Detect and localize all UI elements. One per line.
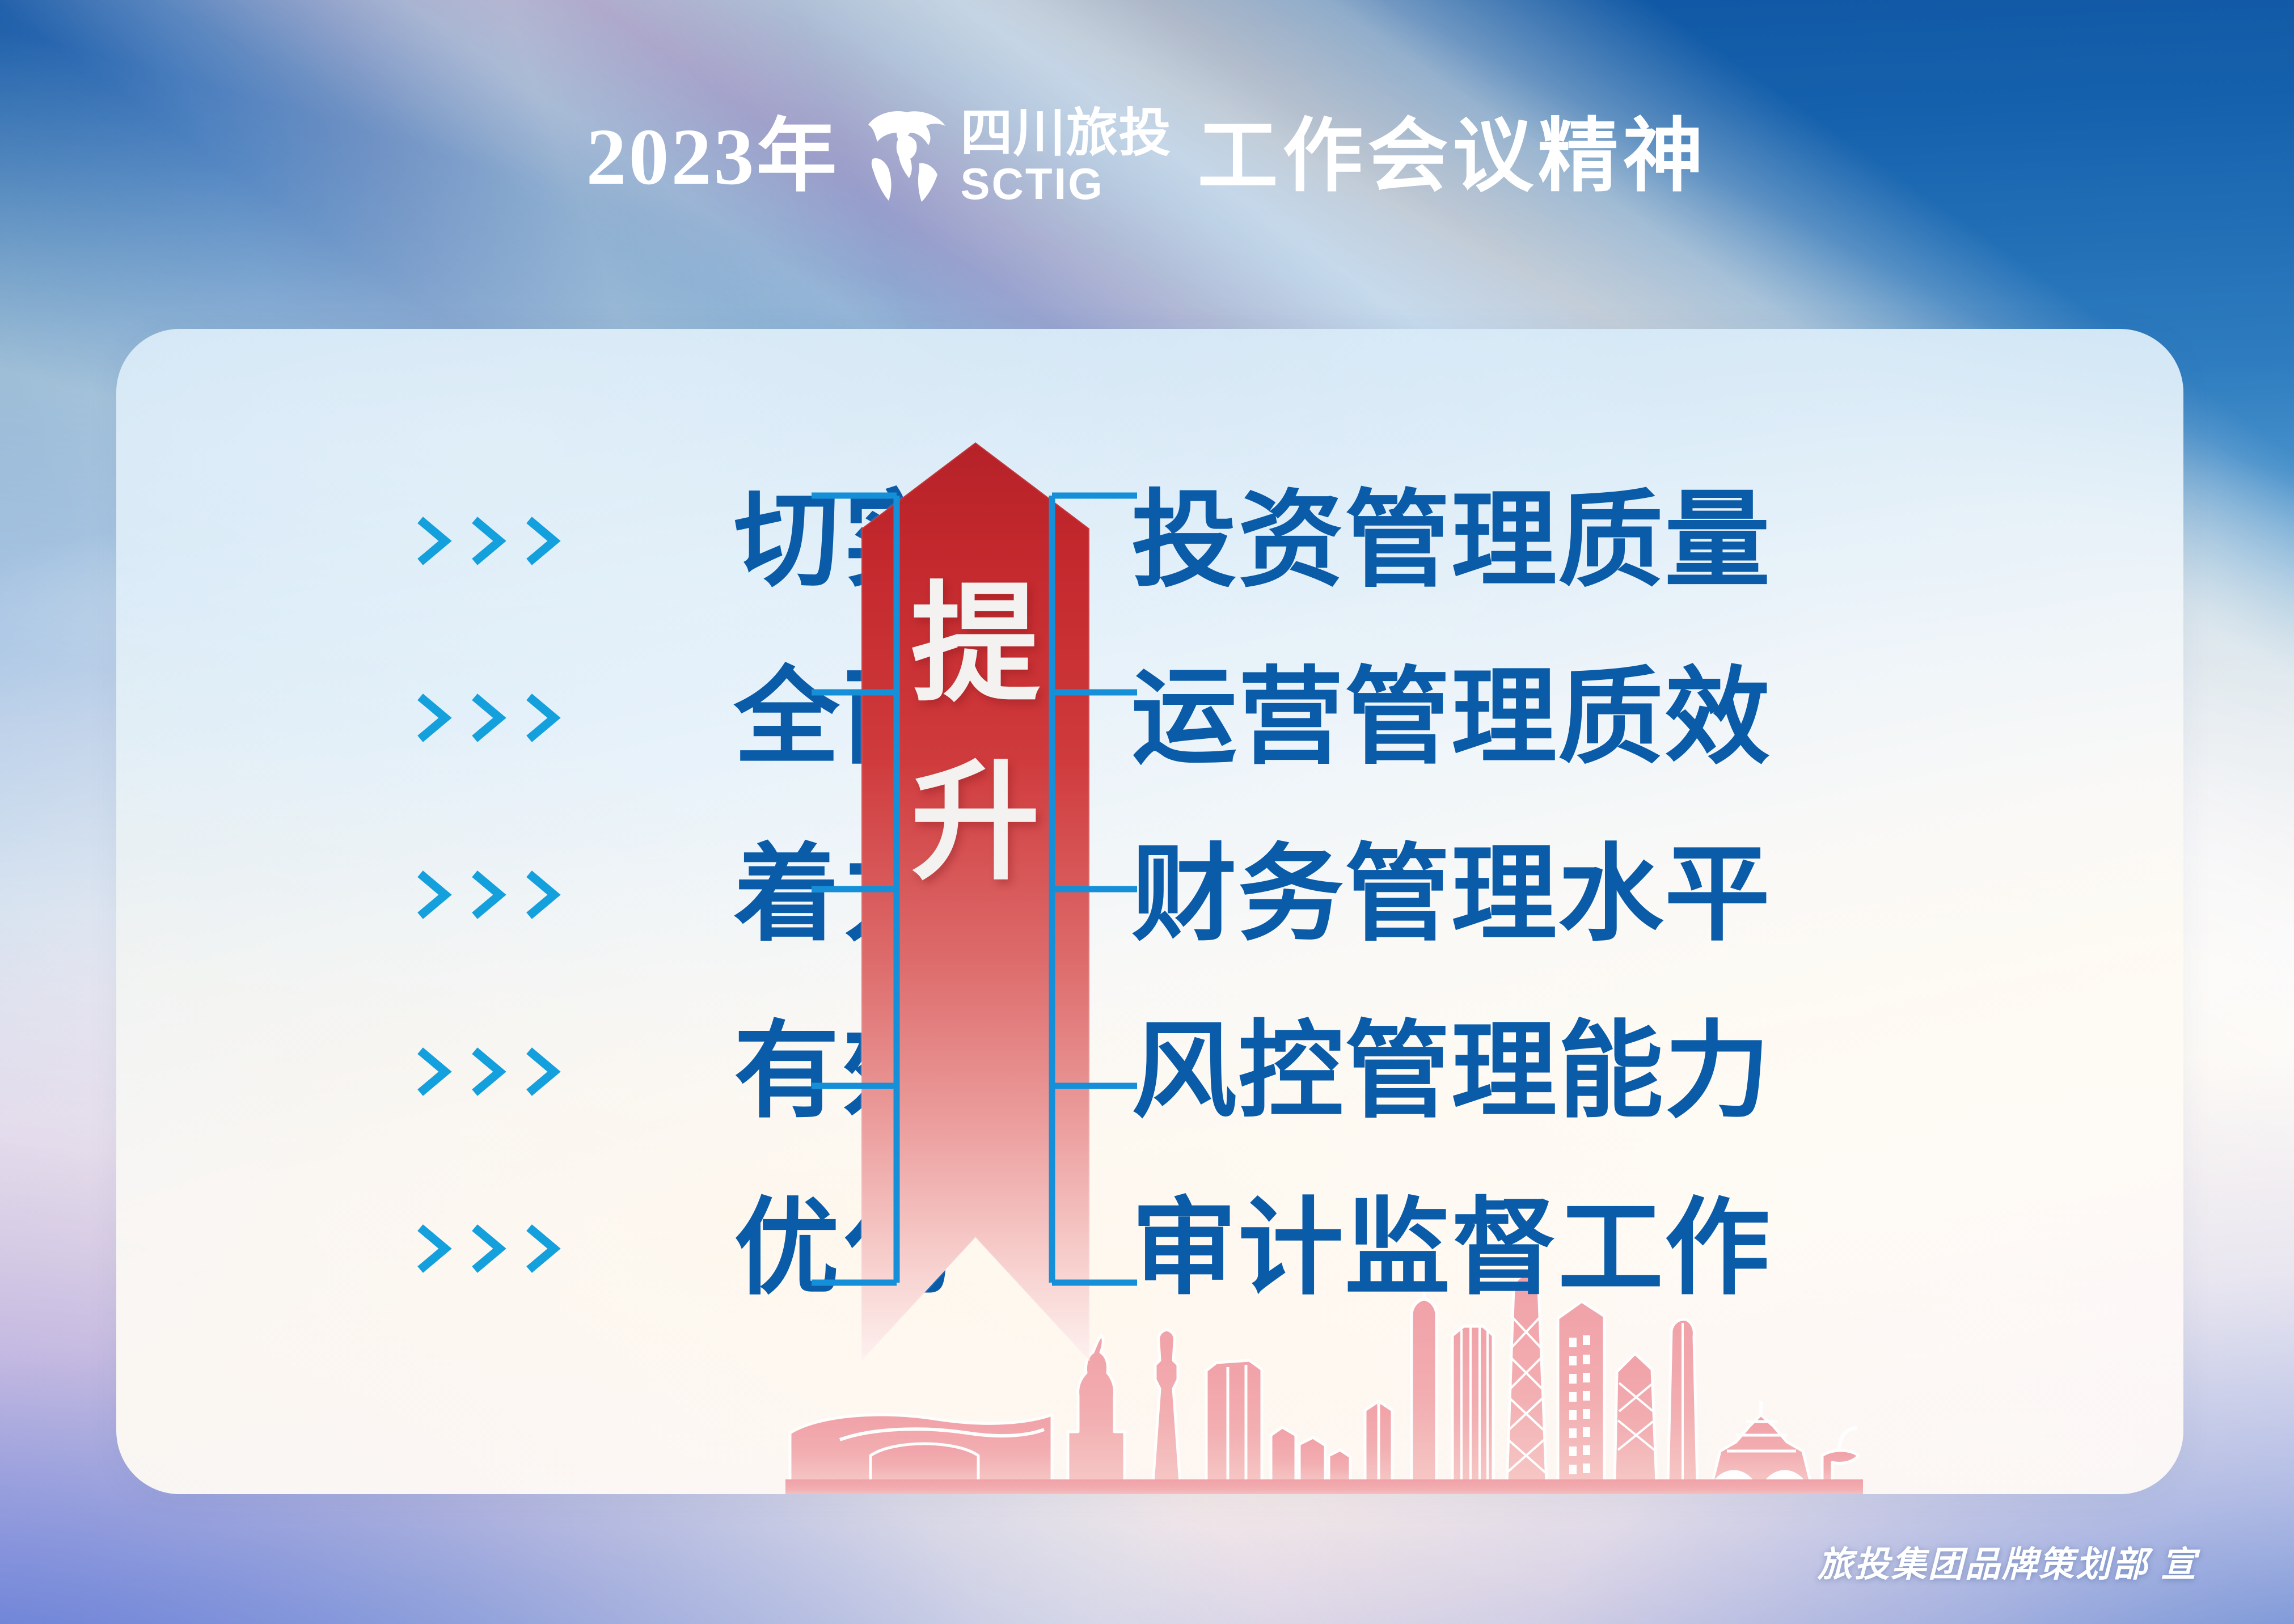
row-target-label: 审计监督工作 [1131,1196,1771,1301]
bracket-right-icon [1040,492,1147,1286]
logo-cn-name: 四川旅投 [960,107,1171,159]
poster-canvas: 2023年 四川旅投 SCTIG 工作会议精神 [0,0,2294,1624]
chevron-right-icon [417,517,561,565]
panda-head-icon [865,109,949,204]
chevron-right-icon [417,1224,561,1273]
logo-en-name: SCTIG [960,162,1104,206]
list-item: 有效 风控管理能力 [116,1000,2183,1143]
row-target-label: 投资管理质量 [1131,488,1771,594]
poster-header: 2023年 四川旅投 SCTIG 工作会议精神 [0,100,2294,213]
row-target-label: 运营管理质效 [1131,665,1771,771]
chevron-right-icon [417,1047,561,1096]
header-title: 工作会议精神 [1198,116,1708,197]
bracket-left-icon [801,492,909,1286]
sctig-logo: 四川旅投 SCTIG [865,107,1171,206]
row-target-label: 风控管理能力 [1131,1019,1771,1124]
credit-text: 旅投集团品牌策划部 宣 [1818,1536,2198,1587]
list-item: 切实 投资管理质量 [116,470,2183,612]
header-year: 2023年 [586,116,839,197]
list-item: 着力 财务管理水平 [116,823,2183,966]
row-target-label: 财务管理水平 [1131,842,1771,948]
list-item: 优化 审计监督工作 [116,1177,2183,1320]
content-area: 提 升 [116,329,2183,1494]
chevron-right-icon [417,693,561,742]
logo-wordmark: 四川旅投 SCTIG [960,107,1171,206]
chevron-right-icon [417,870,561,919]
list-item: 全面 运营管理质效 [116,646,2183,789]
